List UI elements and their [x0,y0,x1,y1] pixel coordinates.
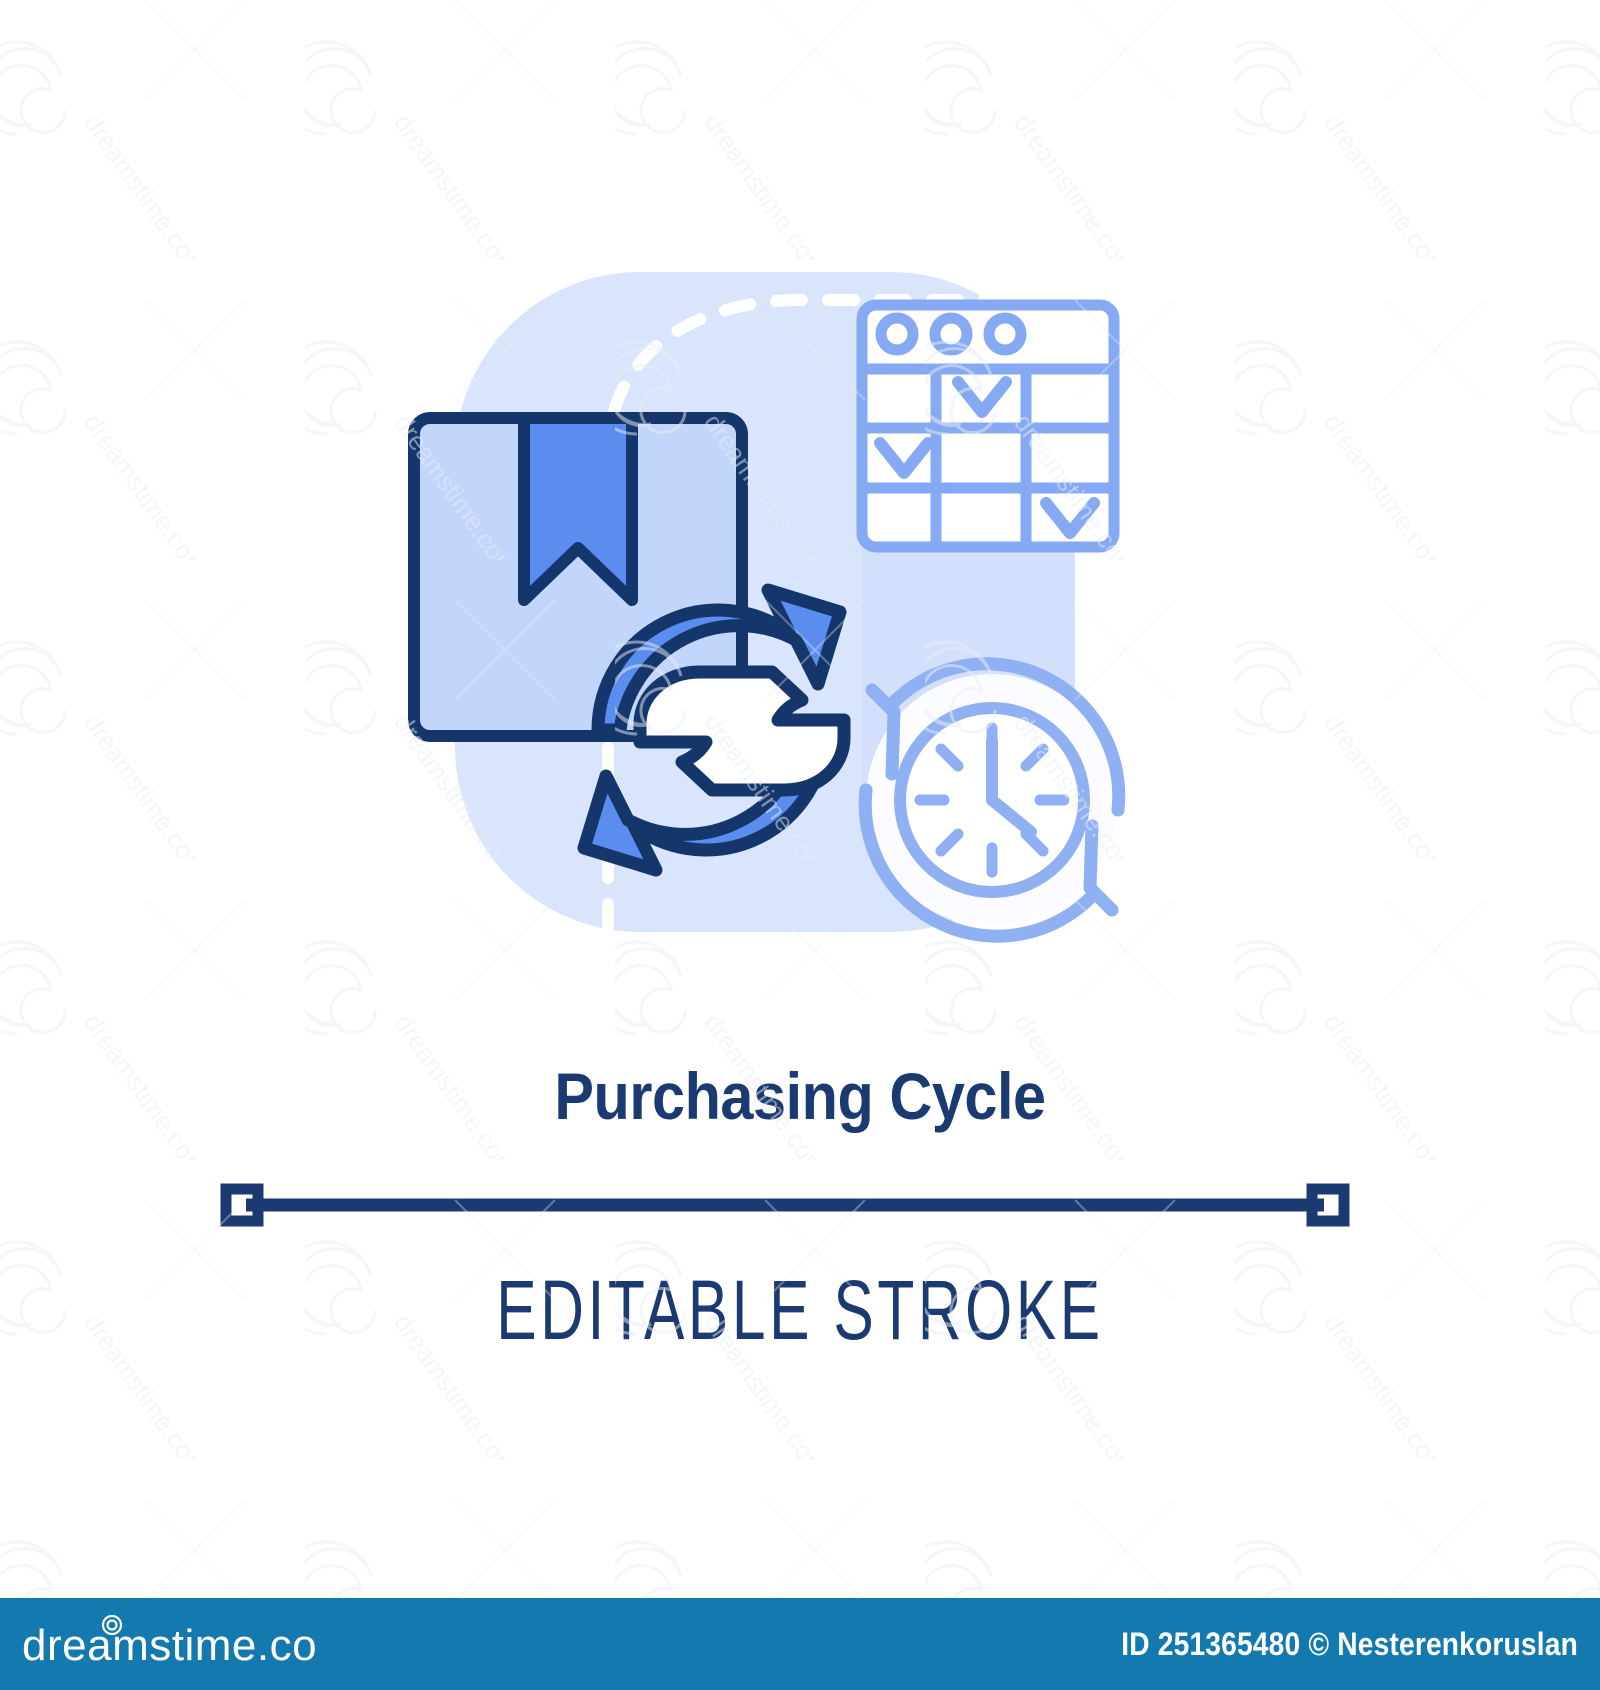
dreamstime-logo-mark: dreamstime.com [20,1612,320,1674]
dreamstime-logo-text: dreamstime.com [22,1621,320,1670]
screenshot-canvas: Purchasing Cycle EDITABLE STROKE dreamst… [0,0,1600,1690]
editable-stroke-label: EDITABLE STROKE [224,1262,1376,1359]
stroke-indicator-handle-left[interactable] [226,1189,258,1221]
svg-text:dreamstime.com: dreamstime.com [78,1308,213,1460]
stroke-indicator-handle-right[interactable] [1312,1189,1344,1221]
footer-bar: dreamstime.com ID 251365480 © Nesterenko… [0,1598,1600,1690]
concept-illustration [0,0,1600,1000]
calendar-grid-icon [862,305,1114,547]
dreamstime-logo: dreamstime.com [20,1614,320,1674]
image-credit: ID 251365480 © Nesterenkoruslan [1121,1626,1578,1663]
stroke-width-indicator [0,1160,1600,1260]
concept-title: Purchasing Cycle [80,1058,1520,1134]
